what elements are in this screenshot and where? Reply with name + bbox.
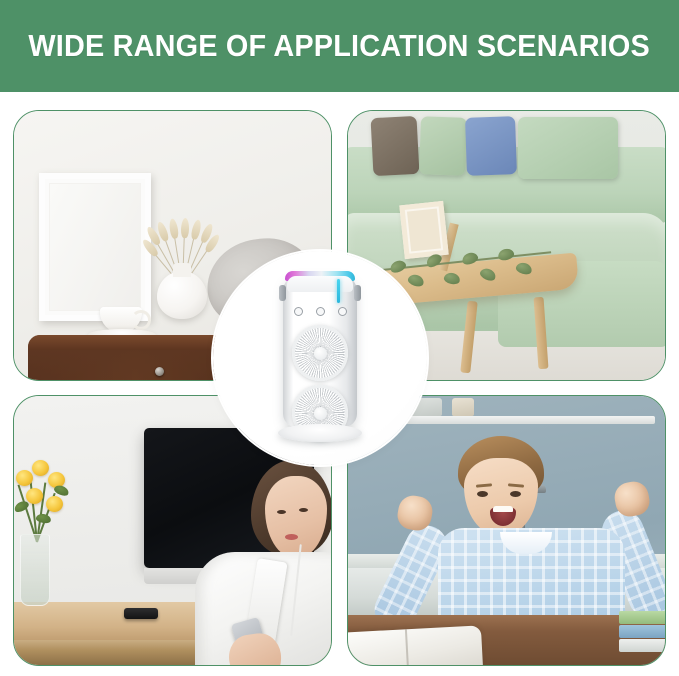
shelf-jar xyxy=(452,398,474,416)
book-green xyxy=(619,611,666,624)
control-button-row[interactable] xyxy=(283,307,357,316)
patterned-pillow xyxy=(371,116,420,176)
woman-figure xyxy=(193,460,332,666)
fan-top-cap xyxy=(287,276,353,292)
stacked-books xyxy=(619,611,666,651)
book-white xyxy=(619,639,666,652)
rose-bouquet xyxy=(14,458,78,542)
sage-pillow-large xyxy=(518,117,618,179)
remote-control xyxy=(124,608,158,619)
leaf-icon xyxy=(424,251,443,269)
eye-icon xyxy=(299,508,308,512)
leaf-icon xyxy=(388,258,407,275)
yellow-rose-icon xyxy=(32,460,49,476)
yellow-rose-icon xyxy=(26,488,43,504)
header-banner: WIDE RANGE OF APPLICATION SCENARIOS xyxy=(0,0,679,92)
speed-button-icon[interactable] xyxy=(316,307,325,316)
blue-pillow xyxy=(465,116,517,176)
lips-icon xyxy=(285,534,298,540)
eye-icon xyxy=(510,491,521,497)
leaf-icon xyxy=(497,247,515,262)
power-button-icon[interactable] xyxy=(294,307,303,316)
fan-side-hinge xyxy=(354,285,361,301)
indicator-light-icon xyxy=(337,279,340,303)
page-title: WIDE RANGE OF APPLICATION SCENARIOS xyxy=(29,28,651,64)
leaf-icon xyxy=(515,261,533,276)
yellow-rose-icon xyxy=(16,470,33,486)
drawer-knob-icon xyxy=(155,367,164,376)
yellow-rose-icon xyxy=(46,496,63,512)
fan-grille-icon-upper xyxy=(292,325,348,381)
leaf-icon xyxy=(443,271,461,285)
eyebrow-icon xyxy=(476,483,492,487)
product-hero-circle[interactable] xyxy=(213,251,427,465)
scenario-panel-kitchen-study-boy[interactable] xyxy=(347,395,666,666)
fan-base-stand xyxy=(278,424,362,442)
leaf-icon xyxy=(478,266,497,283)
product-fan-unit xyxy=(283,269,357,441)
open-mouth-icon xyxy=(490,506,516,526)
glass-vase xyxy=(20,534,50,606)
eyebrow-icon xyxy=(508,483,524,487)
leaf-icon xyxy=(461,251,480,267)
sage-pillow xyxy=(419,116,467,176)
fan-side-hinge xyxy=(279,285,286,301)
product-scenario-poster: WIDE RANGE OF APPLICATION SCENARIOS xyxy=(0,0,679,676)
eye-icon xyxy=(277,510,286,514)
leaf-icon xyxy=(407,273,426,288)
eucalyptus-branch xyxy=(382,239,562,297)
eye-icon xyxy=(477,491,488,497)
open-book xyxy=(347,625,483,666)
mist-button-icon[interactable] xyxy=(338,307,347,316)
book-blue xyxy=(619,625,666,638)
boy-face xyxy=(464,458,538,536)
round-white-vase xyxy=(157,271,207,319)
kitchen-scene xyxy=(348,396,665,665)
